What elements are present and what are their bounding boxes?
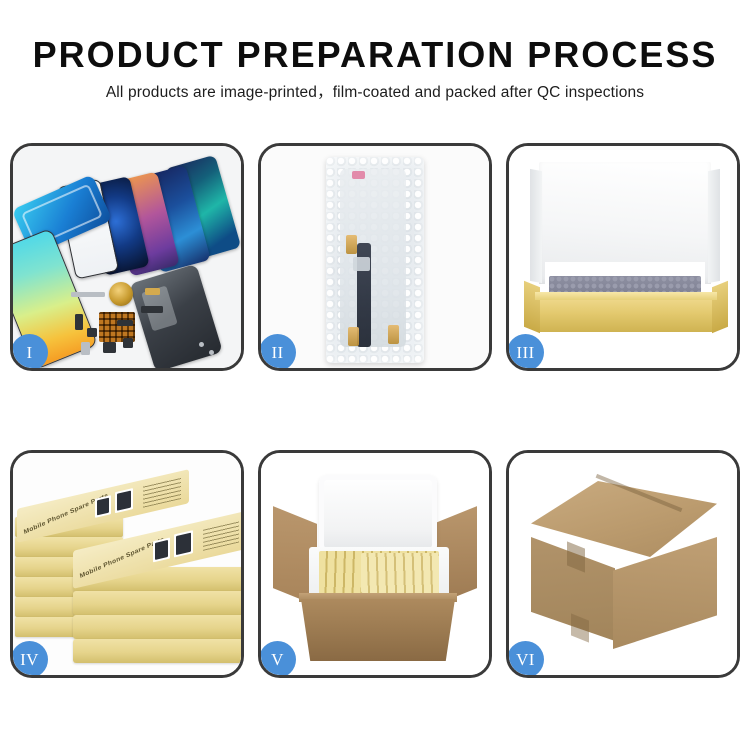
- process-step-panel-4: Mobile Phone Spare Parts Mobile Phone Sp…: [10, 450, 244, 678]
- process-step-panel-5: V: [258, 450, 492, 678]
- process-step-panel-1: I: [10, 143, 244, 371]
- page-header: PRODUCT PREPARATION PROCESS All products…: [0, 0, 750, 104]
- step-badge-6: VI: [509, 641, 544, 675]
- spare-part-gold-flex-icon: [145, 288, 160, 295]
- bubble-wrap-bag-icon: [326, 157, 424, 363]
- kraft-box-lip-icon: [535, 292, 717, 300]
- spare-part-screw-icon: [209, 350, 214, 355]
- open-kraft-box-with-foam-photo: III: [509, 146, 737, 368]
- gold-connector-icon: [388, 325, 399, 344]
- step-badge-3: III: [509, 334, 544, 368]
- spare-part-flex-cable-icon: [141, 306, 163, 313]
- pink-protective-tab-icon: [352, 171, 365, 179]
- driver-ic-icon: [353, 257, 370, 271]
- spare-part-button-icon: [87, 328, 97, 337]
- spare-part-camera-icon: [103, 342, 116, 353]
- gold-connector-icon: [346, 235, 357, 254]
- phone-screens-and-spare-parts-photo: I: [13, 146, 241, 368]
- spare-part-sim-tray-icon: [81, 342, 90, 355]
- carton-with-foam-liner-photo: V: [261, 453, 489, 675]
- spare-part-connector-icon: [75, 314, 83, 330]
- step-badge-5: V: [261, 641, 296, 675]
- stacked-box-item: [73, 615, 241, 639]
- stacked-labelled-boxes-photo: Mobile Phone Spare Parts Mobile Phone Sp…: [13, 453, 241, 675]
- box-stack-icon: Mobile Phone Spare Parts Mobile Phone Sp…: [15, 475, 241, 671]
- process-step-panel-6: VI: [506, 450, 740, 678]
- sealed-shipping-carton-photo: VI: [509, 453, 737, 675]
- step-badge-4: IV: [13, 641, 48, 675]
- spare-part-vibrator-icon: [123, 338, 133, 348]
- stacked-box-item: [73, 591, 241, 615]
- process-step-panel-3: III: [506, 143, 740, 371]
- box-label-thumbnail: [95, 495, 111, 518]
- box-label-spec-lines: [143, 477, 181, 508]
- gold-connector-icon: [348, 327, 359, 346]
- spare-part-screw-icon: [199, 342, 204, 347]
- box-label-thumbnail: [174, 530, 193, 557]
- box-label-thumbnail: [153, 537, 170, 562]
- spare-part-bracket-icon: [71, 292, 105, 297]
- box-label-spec-lines: [203, 520, 239, 551]
- page-subtitle: All products are image-printed，film-coat…: [0, 82, 750, 104]
- step-badge-1: I: [13, 334, 48, 368]
- step-badge-2: II: [261, 334, 296, 368]
- process-step-panel-2: II: [258, 143, 492, 371]
- packed-boxes-row-icon: [361, 553, 439, 593]
- process-step-grid: I II III: [10, 143, 740, 678]
- kraft-box-base-icon: [535, 298, 717, 332]
- lcd-screen-icon: [340, 169, 406, 347]
- speaker-coil-icon: [109, 282, 133, 306]
- spare-part-antenna-icon: [117, 320, 133, 326]
- page-title: PRODUCT PREPARATION PROCESS: [0, 34, 750, 76]
- stacked-box-item: [73, 639, 241, 663]
- bubble-wrapped-lcd-screen-photo: II: [261, 146, 489, 368]
- carton-front-panel-icon: [301, 599, 455, 661]
- foam-lid-icon: [319, 475, 437, 553]
- box-label-thumbnail: [115, 488, 133, 513]
